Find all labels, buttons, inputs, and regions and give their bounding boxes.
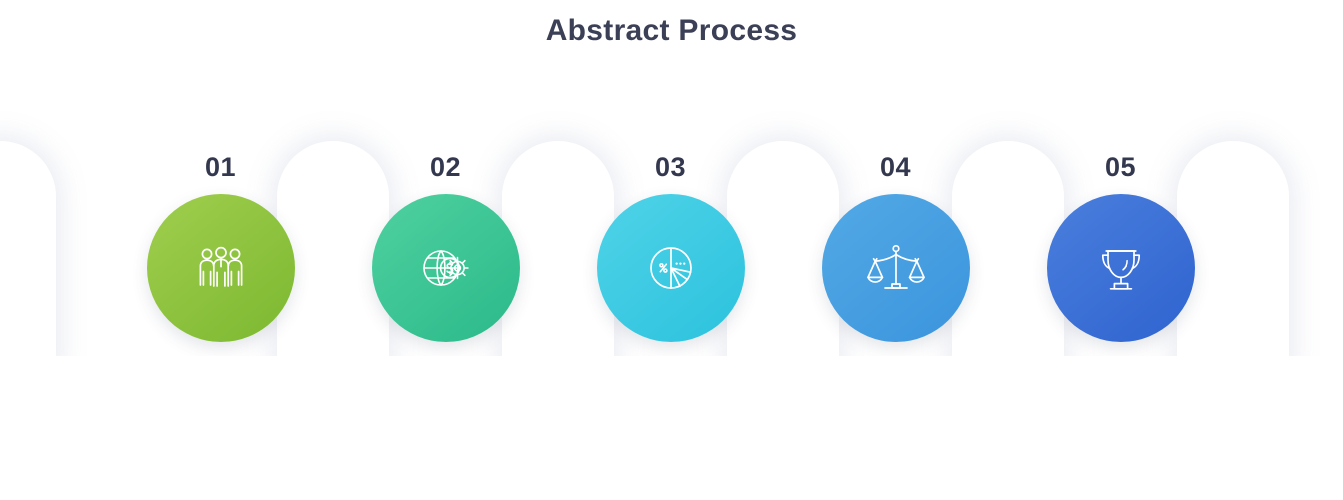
step-circle-03[interactable] (597, 194, 745, 342)
step-circle-02[interactable] (372, 194, 520, 342)
step-circle-04[interactable] (822, 194, 970, 342)
trophy-icon (1092, 239, 1150, 297)
step-number-02: 02 (333, 150, 558, 184)
pie-chart-percent-icon (642, 239, 700, 297)
infographic-canvas: Abstract Process 01 LOREM IPSUM (0, 0, 1343, 500)
step-number-03: 03 (558, 150, 783, 184)
arch-pill-1 (0, 141, 56, 369)
people-group-icon (191, 238, 251, 298)
step-circle-01[interactable] (147, 194, 295, 342)
globe-gear-dollar-icon (416, 238, 476, 298)
step-number-04: 04 (783, 150, 1008, 184)
band-bottom-mask (0, 356, 1343, 500)
balance-scales-icon (866, 239, 926, 297)
step-circle-05[interactable] (1047, 194, 1195, 342)
page-title: Abstract Process (0, 14, 1343, 48)
step-number-05: 05 (1008, 150, 1233, 184)
step-number-01: 01 (108, 150, 333, 184)
